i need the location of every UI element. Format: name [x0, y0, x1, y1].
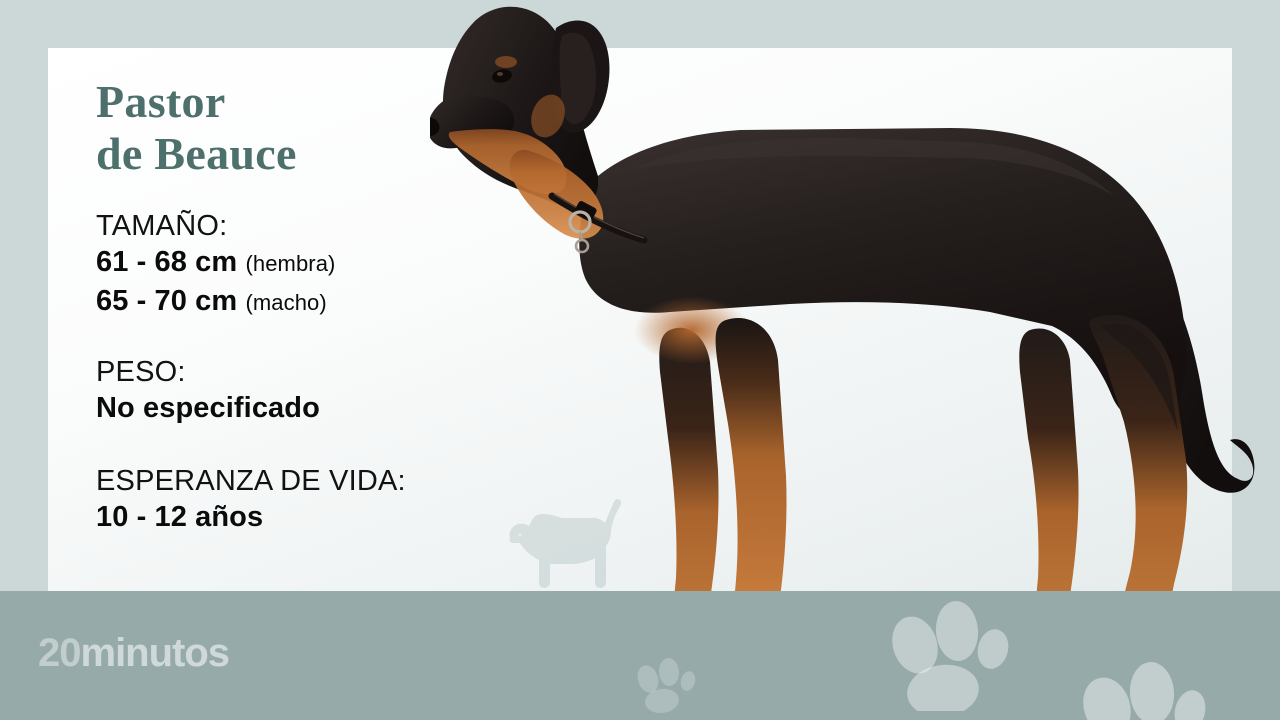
- infographic-canvas: Pastor de Beauce TAMAÑO: 61 - 68 cm (hem…: [0, 0, 1280, 720]
- spec-size-female-number: 61 - 68 cm: [96, 246, 237, 278]
- brand-number: 20: [38, 631, 81, 675]
- spec-size-female-note: (hembra): [245, 251, 335, 276]
- beauceron-dog-photo: [430, 0, 1280, 690]
- paw-print-icon-1: [885, 591, 1013, 711]
- brand-word: minutos: [81, 631, 230, 675]
- title-line-1: Pastor: [96, 76, 226, 127]
- paw-print-icon-2: [1075, 647, 1213, 720]
- footer-band: 20minutos: [0, 591, 1280, 720]
- paw-print-icon-3: [634, 653, 698, 713]
- spec-size-male-note: (macho): [245, 290, 326, 315]
- spec-size-male-number: 65 - 70 cm: [96, 285, 237, 317]
- brand-logo: 20minutos: [38, 631, 229, 676]
